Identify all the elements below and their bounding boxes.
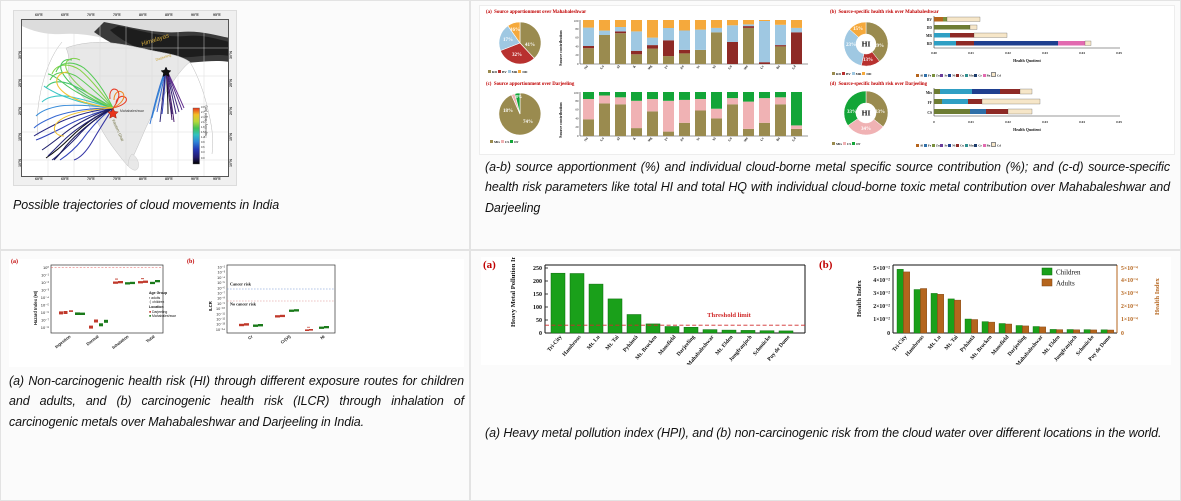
caption-trajectory-map: Possible trajectories of cloud movements… xyxy=(13,195,443,215)
svg-text:10⁻⁴: 10⁻⁴ xyxy=(217,276,225,280)
svg-text:Hazard Index (HI): Hazard Index (HI) xyxy=(33,290,38,325)
svg-text:Mt. Tai: Mt. Tai xyxy=(944,334,960,352)
svg-text:Dermal: Dermal xyxy=(85,334,99,347)
source-apportionment-figure: (a) Source apportionment over Mahabalesh… xyxy=(479,5,1175,155)
panel-d-health-risk-darjeeling: (d) Source-specific health risk over Dar… xyxy=(830,82,1170,152)
svg-text:40: 40 xyxy=(575,116,579,120)
svg-text:Health Index: Health Index xyxy=(856,279,863,317)
panel-a-source-app-mahabaleshwar: (a) Source apportionment over Mahabalesh… xyxy=(486,10,826,80)
svg-text:Cu: Cu xyxy=(727,64,733,70)
svg-text:10⁻³: 10⁻³ xyxy=(218,271,226,275)
svg-text:0: 0 xyxy=(577,62,579,66)
svg-text:10⁻¹¹: 10⁻¹¹ xyxy=(216,312,225,316)
swatch-bv xyxy=(498,70,501,73)
svg-text:Tri-City: Tri-City xyxy=(891,334,908,353)
svg-text:10⁻⁴: 10⁻⁴ xyxy=(41,295,50,300)
map-xtick-top-5: 85°E xyxy=(165,13,173,17)
panel-d-hbars: MixFFCS xyxy=(910,86,1155,144)
svg-text:40: 40 xyxy=(575,44,579,48)
svg-text:Na: Na xyxy=(583,136,589,142)
cell-trajectory-map: Himalayas Darjeeling Mahabaleshwar Weste… xyxy=(0,0,470,250)
map-ytick-right-2: 20°N xyxy=(229,107,233,115)
map-xtick-top-4: 80°E xyxy=(139,13,147,17)
svg-text:Zn: Zn xyxy=(679,136,685,142)
svg-text:17%: 17% xyxy=(503,38,513,43)
svg-text:100: 100 xyxy=(574,91,579,95)
svg-text:Cancer risk: Cancer risk xyxy=(230,282,252,287)
svg-text:Sr: Sr xyxy=(696,64,701,69)
map-xtick-bottom-4: 80°E xyxy=(139,177,147,181)
map-ytick-left-4: 10°N xyxy=(18,159,22,167)
map-ytick-left-1: 25°N xyxy=(18,79,22,87)
figure-sheet: Himalayas Darjeeling Mahabaleshwar Weste… xyxy=(0,0,1181,501)
svg-text:2×10⁻²: 2×10⁻² xyxy=(873,304,890,310)
svg-text:0: 0 xyxy=(1121,331,1124,337)
svg-text:0.05: 0.05 xyxy=(1116,120,1122,124)
svg-text:Cu: Cu xyxy=(727,136,733,142)
svg-text:100: 100 xyxy=(533,305,542,311)
svg-text:Adults: Adults xyxy=(1056,280,1075,288)
svg-text:0.02: 0.02 xyxy=(1005,120,1011,124)
svg-text:Al: Al xyxy=(616,136,621,141)
svg-text:200: 200 xyxy=(533,279,542,285)
panel-a-ylabel: Source contribution xyxy=(558,30,563,66)
svg-text:Tri-City: Tri-City xyxy=(546,334,563,353)
svg-text:0.04: 0.04 xyxy=(1079,51,1085,55)
panel-b-hbars: BVDDMRRD xyxy=(910,14,1155,72)
caption-health-risk: (a) Non-carcinogenic health risk (HI) th… xyxy=(9,371,464,432)
svg-text:15%: 15% xyxy=(853,27,863,32)
swatch-mr xyxy=(508,70,511,73)
svg-text:10⁻¹²: 10⁻¹² xyxy=(216,318,225,322)
svg-text:Mt. Lu: Mt. Lu xyxy=(927,334,942,351)
svg-text:10⁻²: 10⁻² xyxy=(218,266,226,270)
map-xtick-top-7: 95°E xyxy=(213,13,221,17)
svg-text:Sr: Sr xyxy=(696,136,701,141)
svg-text:1×10⁻⁴: 1×10⁻⁴ xyxy=(1121,317,1138,323)
svg-text:0: 0 xyxy=(539,331,542,337)
figure-grid: Himalayas Darjeeling Mahabaleshwar Weste… xyxy=(0,0,1181,501)
svg-text:1×10⁻²: 1×10⁻² xyxy=(873,317,890,323)
dotplot-legend: Age Group ▪ adults ┤ children Location ■… xyxy=(149,291,176,319)
svg-text:Inhalation: Inhalation xyxy=(111,334,130,350)
svg-text:Cd: Cd xyxy=(791,136,797,142)
svg-text:0.02: 0.02 xyxy=(1005,51,1011,55)
svg-text:33%: 33% xyxy=(847,110,857,115)
hpi-chart-a: 0 50 100 150 200 250 Heavy Metal Polluti… xyxy=(489,257,819,365)
svg-text:K: K xyxy=(632,64,637,69)
svg-text:Cr: Cr xyxy=(759,136,765,142)
svg-text:K: K xyxy=(632,136,637,141)
svg-text:0.03: 0.03 xyxy=(1042,120,1048,124)
map-ytick-left-3: 15°N xyxy=(18,133,22,141)
svg-text:10⁻⁵: 10⁻⁵ xyxy=(217,281,225,285)
svg-text:Fe: Fe xyxy=(664,136,669,142)
map-canvas: Himalayas Darjeeling Mahabaleshwar Weste… xyxy=(22,20,228,176)
svg-text:RD: RD xyxy=(927,42,933,46)
svg-text:Mix: Mix xyxy=(926,91,932,95)
svg-text:10⁻⁵: 10⁻⁵ xyxy=(41,303,50,308)
svg-text:Cr: Cr xyxy=(759,64,765,70)
svg-text:0.03: 0.03 xyxy=(1042,51,1048,55)
svg-text:20: 20 xyxy=(575,125,579,129)
caption-source-apportionment: (a-b) source apportionment (%) and indiv… xyxy=(485,157,1170,218)
legend-title-age-group: Age Group xyxy=(149,291,167,295)
map-xtick-bottom-0: 60°E xyxy=(35,177,43,181)
svg-text:Hambrous: Hambrous xyxy=(905,334,926,358)
svg-text:10⁻³: 10⁻³ xyxy=(41,288,50,293)
panel-c-ylabel: Source contribution xyxy=(558,102,563,138)
panel-b-donut-legend: RD BV MR DD xyxy=(832,72,871,76)
panel-d-donut-legend: Mix CS FF xyxy=(832,142,861,146)
svg-text:20: 20 xyxy=(575,53,579,57)
svg-text:10⁰: 10⁰ xyxy=(43,265,49,270)
panel-b-donut: 49% 13% 23% 15% HI xyxy=(830,18,908,74)
svg-text:HI: HI xyxy=(862,40,871,49)
svg-text:Pyhäntä: Pyhäntä xyxy=(959,334,977,353)
dotplot-a-label: (a) xyxy=(11,259,18,265)
legend-item-darjeeling: ■ Darjeeling xyxy=(149,310,167,314)
svg-text:23%: 23% xyxy=(846,43,856,48)
svg-text:Mg: Mg xyxy=(647,64,653,70)
dotplot-b: Cancer risk No cancer risk 10⁻²10⁻³10⁻⁴ … xyxy=(201,259,376,363)
map-ytick-right-3: 15°N xyxy=(229,133,233,141)
hpi-chart-b: 0 1×10⁻² 2×10⁻² 3×10⁻² 4×10⁻² 5×10⁻² 0 1… xyxy=(827,257,1172,365)
map-xtick-top-2: 70°E xyxy=(87,13,95,17)
svg-text:Fe: Fe xyxy=(664,64,669,70)
svg-text:Mt. Tai: Mt. Tai xyxy=(605,334,621,352)
svg-text:10⁻¹³: 10⁻¹³ xyxy=(216,323,225,327)
svg-text:Al: Al xyxy=(616,64,621,69)
svg-text:0: 0 xyxy=(577,134,579,138)
svg-text:60: 60 xyxy=(575,36,579,40)
map-label-mahabaleshwar: Mahabaleshwar xyxy=(120,109,145,113)
svg-text:Ni: Ni xyxy=(712,64,717,69)
map-ytick-right-4: 10°N xyxy=(229,159,233,167)
panel-b-metal-legend: Al Fe Zn Sr Ni Cu Mn Cr Ba Cd xyxy=(916,72,1001,78)
svg-text:10⁻¹⁴: 10⁻¹⁴ xyxy=(216,328,225,332)
cell-health-risk-dotplots: (a) 10⁰10⁻¹10⁻² 10⁻³10⁻⁴10⁻⁵ 10⁻⁶10⁻⁷10⁻… xyxy=(0,250,470,501)
svg-text:10⁻²: 10⁻² xyxy=(41,280,50,285)
svg-text:10⁻⁷: 10⁻⁷ xyxy=(217,292,225,296)
svg-text:Cr: Cr xyxy=(247,334,254,341)
map-xtick-top-1: 65°E xyxy=(61,13,69,17)
trajectory-map-figure: Himalayas Darjeeling Mahabaleshwar Weste… xyxy=(14,11,236,185)
panel-c-legend: Mix CS FF xyxy=(490,140,519,144)
map-xtick-bottom-3: 75°E xyxy=(113,177,121,181)
svg-text:5×10⁻⁴: 5×10⁻⁴ xyxy=(1121,266,1138,272)
svg-text:74%: 74% xyxy=(523,120,533,125)
svg-text:0.01: 0.01 xyxy=(968,120,974,124)
map-ytick-right-1: 25°N xyxy=(229,79,233,87)
svg-text:Ca: Ca xyxy=(599,64,605,70)
map-xtick-top-3: 75°E xyxy=(113,13,121,17)
svg-text:32%: 32% xyxy=(512,53,522,58)
svg-text:0.00: 0.00 xyxy=(931,51,937,55)
svg-text:DD: DD xyxy=(927,26,933,30)
svg-text:Hambrous: Hambrous xyxy=(562,334,583,358)
panel-d-donut: 33% 34% 33% HI xyxy=(830,88,908,142)
health-risk-figure: (a) 10⁰10⁻¹10⁻² 10⁻³10⁻⁴10⁻⁵ 10⁻⁶10⁻⁷10⁻… xyxy=(9,259,464,367)
svg-text:18%: 18% xyxy=(503,109,513,114)
svg-text:Ni: Ni xyxy=(319,334,325,341)
svg-text:Total: Total xyxy=(145,334,156,344)
svg-text:10⁻⁷: 10⁻⁷ xyxy=(41,318,50,323)
svg-text:4×10⁻⁴: 4×10⁻⁴ xyxy=(1121,278,1138,284)
map-xtick-bottom-7: 95°E xyxy=(213,177,221,181)
legend-item-mahabaleshwar: ■ Mahabaleshwar xyxy=(149,314,176,318)
svg-text:0.05: 0.05 xyxy=(1116,51,1122,55)
map-xtick-bottom-2: 70°E xyxy=(87,177,95,181)
svg-text:0: 0 xyxy=(887,331,890,337)
svg-text:Heavy Metal Pollution Index: Heavy Metal Pollution Index xyxy=(510,257,517,327)
svg-text:5×10⁻²: 5×10⁻² xyxy=(873,266,890,272)
threshold-limit-label: Threshold limit xyxy=(707,312,751,319)
svg-text:FF: FF xyxy=(928,101,933,105)
map-xtick-bottom-5: 85°E xyxy=(165,177,173,181)
panel-a-pie: 41% 32% 17% 16% xyxy=(486,18,558,70)
svg-text:41%: 41% xyxy=(525,43,535,48)
svg-text:ILCR: ILCR xyxy=(208,301,213,311)
svg-text:CS: CS xyxy=(927,111,932,115)
svg-text:8%: 8% xyxy=(516,94,522,99)
svg-text:Mn: Mn xyxy=(743,64,749,70)
svg-text:Pyhäntä: Pyhäntä xyxy=(622,334,640,353)
svg-text:Ba: Ba xyxy=(775,64,781,70)
map-xtick-bottom-1: 65°E xyxy=(61,177,69,181)
legend-title-location: Location xyxy=(149,305,164,309)
panel-b-health-risk-mahabaleshwar: (b) Source-specific health risk over Mah… xyxy=(830,10,1170,80)
map-xtick-top-6: 90°E xyxy=(191,13,199,17)
dotplot-b-label: (b) xyxy=(187,259,194,265)
stacked-bar-group xyxy=(583,20,802,64)
svg-text:150: 150 xyxy=(533,292,542,298)
svg-text:50: 50 xyxy=(536,318,542,324)
map-svg: Himalayas Darjeeling Mahabaleshwar Weste… xyxy=(22,20,228,176)
svg-text:80: 80 xyxy=(575,99,579,103)
svg-text:16%: 16% xyxy=(510,28,520,33)
svg-text:Health Index: Health Index xyxy=(1154,277,1161,315)
svg-text:60: 60 xyxy=(575,108,579,112)
panel-c-pie: 74% 18% 8% xyxy=(486,90,558,140)
map-xtick-top-0: 60°E xyxy=(35,13,43,17)
panel-c-title: (c) Source apportionment over Darjeeling xyxy=(486,82,826,87)
svg-text:Ni: Ni xyxy=(712,136,717,141)
svg-text:Ingestion: Ingestion xyxy=(54,334,72,350)
cell-hpi-bars: (a) 0 50 100 150 200 250 xyxy=(470,250,1181,501)
svg-text:No cancer risk: No cancer risk xyxy=(230,302,257,307)
svg-text:10⁻⁸: 10⁻⁸ xyxy=(217,297,225,301)
svg-text:Mg: Mg xyxy=(647,136,653,142)
svg-text:10⁻¹⁰: 10⁻¹⁰ xyxy=(216,307,225,311)
svg-text:Zn: Zn xyxy=(679,64,685,70)
svg-text:10⁻⁹: 10⁻⁹ xyxy=(217,302,225,306)
svg-text:Na: Na xyxy=(583,64,589,70)
panel-a-legend: RD BV MR DD xyxy=(488,70,527,74)
hi-bars xyxy=(897,269,1114,333)
svg-text:Health Quotient: Health Quotient xyxy=(1013,58,1041,63)
panel-d-metal-legend: Al Fe Zn Sr Ni Cu Mn Cr Ba Cd xyxy=(916,142,1001,148)
svg-text:0: 0 xyxy=(933,120,935,124)
svg-text:Cr(VI): Cr(VI) xyxy=(280,333,293,344)
svg-text:Ba: Ba xyxy=(775,136,781,142)
svg-text:13%: 13% xyxy=(863,58,873,63)
caption-hpi: (a) Heavy metal pollution index (HPI), a… xyxy=(485,423,1165,443)
cell-source-apportionment: (a) Source apportionment over Mahabalesh… xyxy=(470,0,1181,250)
svg-text:Cd: Cd xyxy=(791,64,797,70)
svg-text:Ca: Ca xyxy=(599,136,605,142)
svg-text:10⁻⁶: 10⁻⁶ xyxy=(41,310,50,315)
svg-text:BV: BV xyxy=(927,18,932,22)
svg-text:10⁻⁶: 10⁻⁶ xyxy=(217,286,225,290)
swatch-dd xyxy=(518,70,521,73)
svg-text:4×10⁻²: 4×10⁻² xyxy=(873,278,890,284)
hpi-figure: (a) 0 50 100 150 200 250 xyxy=(481,257,1171,365)
panel-a-title: (a) Source apportionment over Mahabalesh… xyxy=(486,10,826,15)
map-ytick-right-0: 30°N xyxy=(229,51,233,59)
swatch-rd xyxy=(488,70,491,73)
svg-text:MR: MR xyxy=(926,34,932,38)
hi-legend: Children Adults xyxy=(1042,268,1081,288)
svg-text:10⁻⁸: 10⁻⁸ xyxy=(41,325,50,330)
svg-text:3×10⁻²: 3×10⁻² xyxy=(873,291,890,297)
panel-c-source-app-darjeeling: (c) Source apportionment over Darjeeling… xyxy=(486,82,826,152)
svg-text:Health Quotient: Health Quotient xyxy=(1013,127,1041,132)
svg-text:80: 80 xyxy=(575,27,579,31)
map-ytick-left-2: 20°N xyxy=(18,107,22,115)
map-frame: Himalayas Darjeeling Mahabaleshwar Weste… xyxy=(21,19,229,177)
panel-c-stacked-bars: 02040 6080100 xyxy=(570,90,810,142)
svg-text:Mt. Lu: Mt. Lu xyxy=(586,334,601,351)
svg-text:3×10⁻⁴: 3×10⁻⁴ xyxy=(1121,291,1138,297)
legend-item-children: ┤ children xyxy=(149,300,164,304)
svg-text:33%: 33% xyxy=(875,110,885,115)
svg-text:2×10⁻⁴: 2×10⁻⁴ xyxy=(1121,304,1138,310)
svg-text:Mn: Mn xyxy=(743,136,749,142)
svg-text:0.01: 0.01 xyxy=(968,51,974,55)
svg-text:Children: Children xyxy=(1056,269,1081,277)
svg-text:100: 100 xyxy=(574,19,579,23)
panel-a-stacked-bars: 02040 6080100 xyxy=(570,18,810,70)
map-ytick-left-0: 30°N xyxy=(18,51,22,59)
svg-text:10⁻¹: 10⁻¹ xyxy=(41,273,50,278)
map-xtick-bottom-6: 90°E xyxy=(191,177,199,181)
hpi-bars xyxy=(551,273,793,333)
svg-text:HI: HI xyxy=(862,109,871,118)
svg-text:250: 250 xyxy=(533,266,542,272)
svg-text:49%: 49% xyxy=(874,44,884,49)
svg-text:34%: 34% xyxy=(861,127,871,132)
svg-text:0.04: 0.04 xyxy=(1079,120,1085,124)
